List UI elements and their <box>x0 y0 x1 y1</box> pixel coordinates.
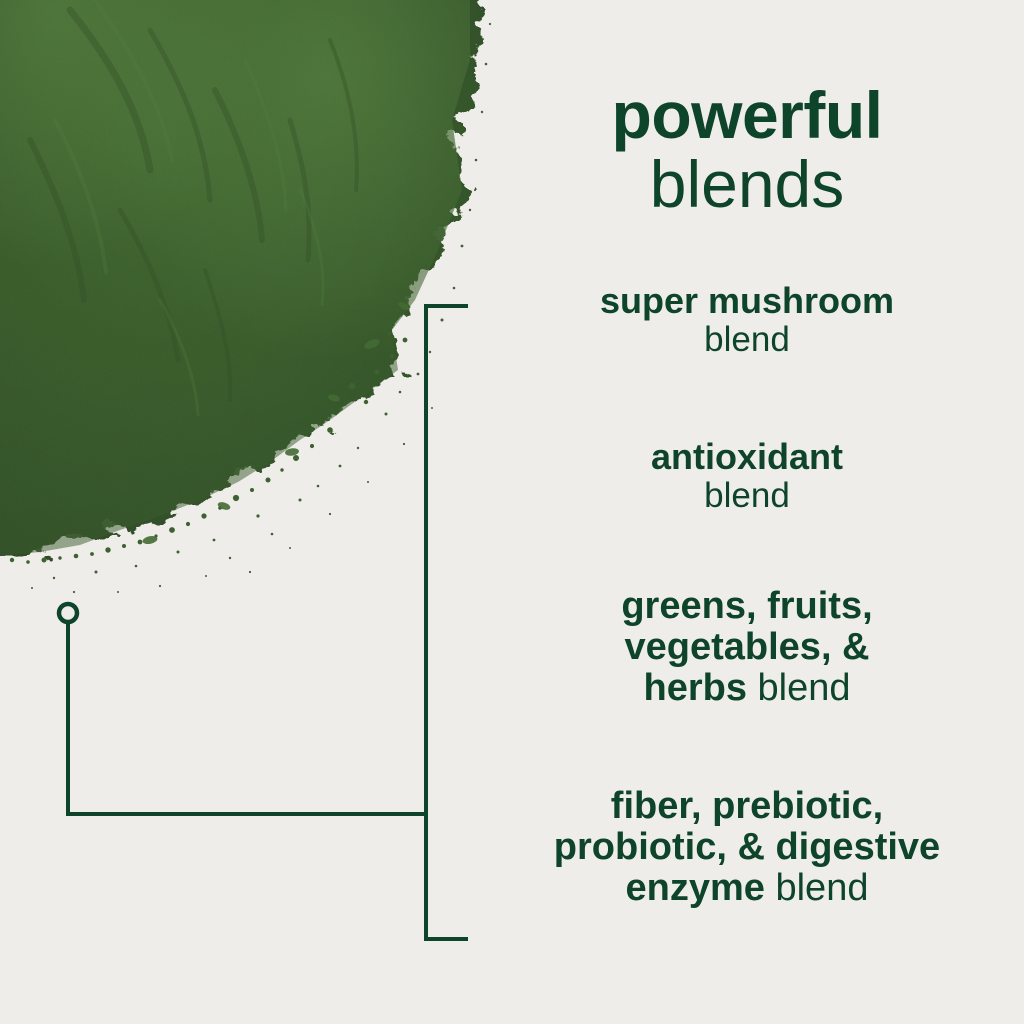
headline-line-1: powerful <box>470 83 1024 148</box>
headline-line-2: blends <box>470 152 1024 217</box>
blend-line: greens, fruits, <box>470 586 1024 627</box>
blend-line: antioxidant <box>470 438 1024 477</box>
blend-line: fiber, prebiotic, <box>470 786 1024 827</box>
powder-image <box>0 0 500 600</box>
blend-line-emphasis: enzyme <box>626 867 765 909</box>
blend-line: vegetables, & <box>470 627 1024 668</box>
powder-dust-specks <box>10 23 491 593</box>
blend-item-super-mushroom: super mushroom blend <box>470 282 1024 359</box>
blend-line: probiotic, & digestive <box>470 827 1024 868</box>
blend-line: herbs blend <box>470 668 1024 709</box>
page-title: powerful blends <box>470 83 1024 216</box>
product-infographic-canvas: powerful blends super mushroom blend ant… <box>0 0 1024 1024</box>
blend-line-suffix: blend <box>747 667 851 709</box>
powder-illustration <box>0 0 500 600</box>
content-column: powerful blends super mushroom blend ant… <box>470 0 1024 1024</box>
blend-line: super mushroom <box>470 282 1024 321</box>
blend-item-greens-fruits-vegetables-herbs: greens, fruits, vegetables, & herbs blen… <box>470 586 1024 709</box>
blend-item-fiber-prebiotic-probiotic-digestive-enzyme: fiber, prebiotic, probiotic, & digestive… <box>470 786 1024 909</box>
blend-line: enzyme blend <box>470 868 1024 909</box>
blend-line-emphasis: herbs <box>643 667 746 709</box>
blend-line: blend <box>470 477 1024 515</box>
blend-line: blend <box>470 321 1024 359</box>
circle-marker-icon <box>59 604 77 622</box>
blend-item-antioxidant: antioxidant blend <box>470 438 1024 515</box>
blend-line-suffix: blend <box>765 867 869 909</box>
